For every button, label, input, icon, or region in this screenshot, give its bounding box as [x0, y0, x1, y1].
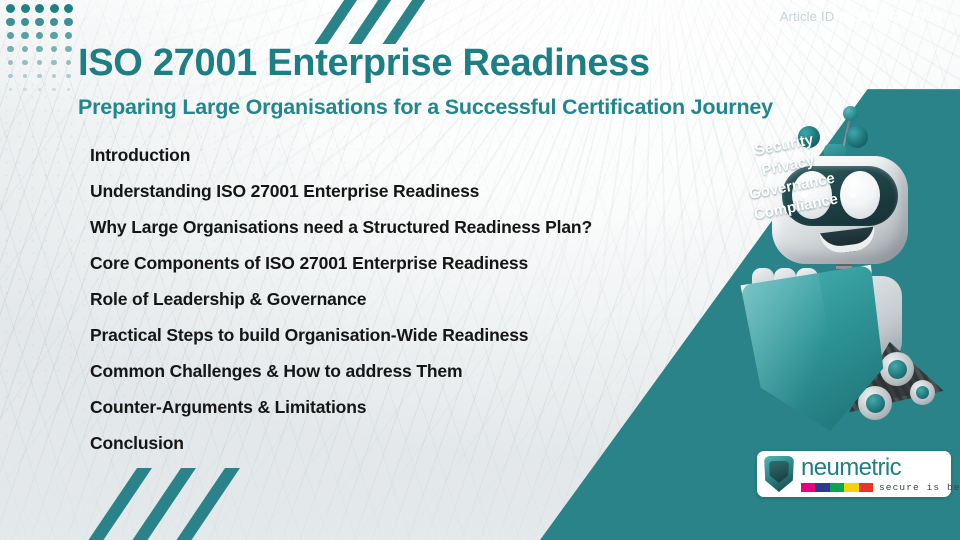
dot	[23, 74, 27, 78]
logo-subline: secure is better	[801, 482, 960, 493]
dot	[23, 88, 27, 92]
presentation-slide: Article ID N2512MCA-4753 ISO 27001 Enter…	[0, 0, 960, 540]
diagonal-slashes-top	[330, 0, 440, 36]
logo-shield-icon	[764, 456, 794, 492]
logo-color-bar	[830, 483, 844, 492]
dot	[35, 4, 44, 13]
dot	[51, 46, 57, 52]
dot	[22, 46, 28, 52]
dot	[7, 46, 13, 52]
dot	[52, 74, 56, 78]
dot	[66, 74, 70, 78]
logo-wordmark: neumetric	[801, 456, 960, 480]
dot	[8, 74, 12, 78]
dot	[50, 32, 57, 39]
robot-mascot: SecurityPrivacyGovernanceCompliance	[724, 108, 960, 458]
agenda-item[interactable]: Conclusion	[90, 425, 730, 461]
antenna-ball-icon	[843, 106, 858, 121]
wheel-roller	[910, 380, 935, 405]
dot	[6, 4, 15, 13]
dot	[50, 4, 59, 13]
logo-text-block: neumetric secure is better	[801, 456, 960, 493]
diagonal-slashes-bottom	[104, 464, 254, 540]
dot	[52, 88, 56, 92]
agenda-item[interactable]: Role of Leadership & Governance	[90, 281, 730, 317]
dot	[65, 46, 71, 52]
agenda-list: IntroductionUnderstanding ISO 27001 Ente…	[90, 137, 730, 461]
dot	[6, 18, 14, 26]
dot	[22, 60, 27, 65]
slide-subtitle: Preparing Large Organisations for a Succ…	[78, 95, 773, 120]
logo-color-bar	[859, 483, 873, 492]
dot	[65, 32, 72, 39]
dot	[36, 46, 42, 52]
logo-color-bar	[844, 483, 858, 492]
dot	[7, 32, 14, 39]
dot	[37, 74, 41, 78]
neumetric-logo[interactable]: neumetric secure is better	[757, 451, 951, 497]
article-id-value: N2512MCA-4753	[838, 9, 942, 24]
shield-gloss	[740, 265, 844, 442]
logo-color-bar	[815, 483, 829, 492]
dot	[64, 18, 72, 26]
article-id: Article ID N2512MCA-4753	[780, 9, 942, 24]
dot-grid-decoration	[6, 4, 80, 84]
logo-color-bar	[801, 483, 815, 492]
dot	[64, 4, 73, 13]
agenda-item[interactable]: Counter-Arguments & Limitations	[90, 389, 730, 425]
dot	[37, 60, 42, 65]
agenda-item[interactable]: Introduction	[90, 137, 730, 173]
dot	[36, 32, 43, 39]
dot	[35, 18, 43, 26]
agenda-item[interactable]: Core Components of ISO 27001 Enterprise …	[90, 245, 730, 281]
agenda-item[interactable]: Practical Steps to build Organisation-Wi…	[90, 317, 730, 353]
dot	[50, 18, 58, 26]
dot	[21, 32, 28, 39]
slide-title: ISO 27001 Enterprise Readiness	[78, 42, 650, 85]
article-id-label: Article ID	[780, 9, 835, 24]
agenda-item[interactable]: Understanding ISO 27001 Enterprise Readi…	[90, 173, 730, 209]
dot	[8, 60, 13, 65]
dot	[21, 18, 29, 26]
dot	[66, 60, 71, 65]
logo-color-bars	[801, 483, 873, 492]
logo-tagline: secure is better	[879, 482, 960, 493]
dot	[51, 60, 56, 65]
wheel-roller	[880, 352, 914, 386]
dot	[21, 4, 30, 13]
agenda-item[interactable]: Why Large Organisations need a Structure…	[90, 209, 730, 245]
agenda-item[interactable]: Common Challenges & How to address Them	[90, 353, 730, 389]
